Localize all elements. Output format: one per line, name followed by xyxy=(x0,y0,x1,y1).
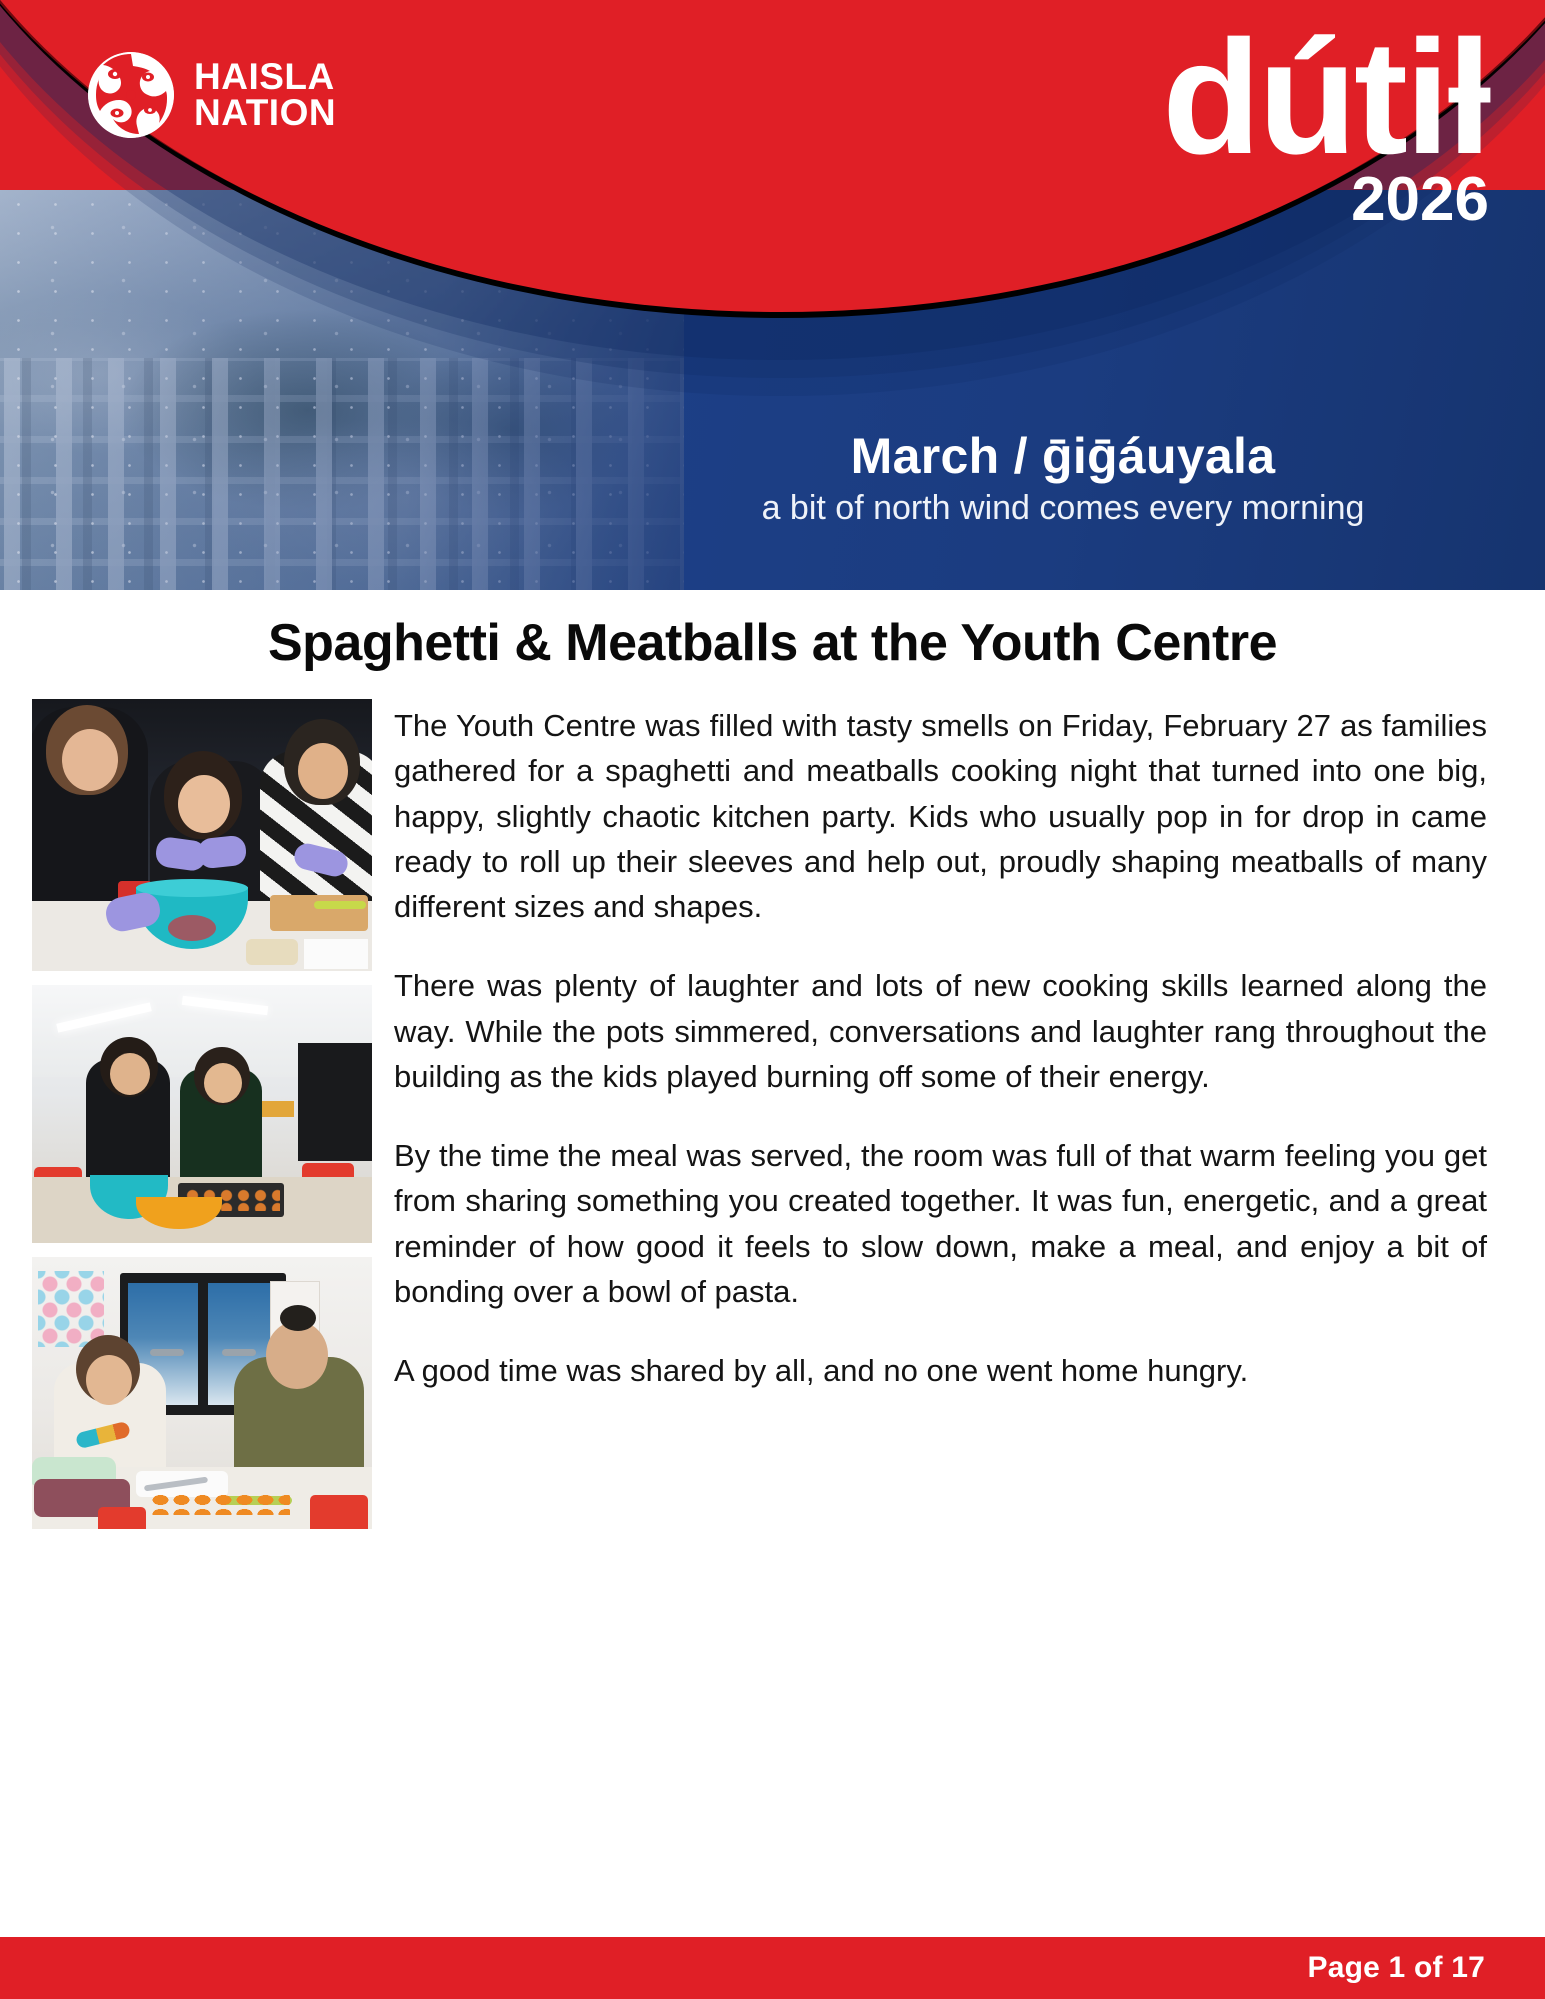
article-paragraph-4: A good time was shared by all, and no on… xyxy=(394,1348,1487,1393)
page-number-label: Page 1 of 17 xyxy=(1308,1951,1545,1985)
photo1-breadcrumb-bag xyxy=(246,939,298,965)
photo2-dark-locker xyxy=(298,1043,372,1161)
month-banner: March / ḡiḡáuyala a bit of north wind co… xyxy=(623,428,1503,529)
photo1-recipe-paper xyxy=(304,939,368,969)
article-paragraph-2: There was plenty of laughter and lots of… xyxy=(394,963,1487,1099)
month-blue-panel xyxy=(684,190,1545,590)
photo1-adult-face xyxy=(62,729,118,791)
hero-aerial-photo xyxy=(0,190,700,590)
photo2-youth-right-face xyxy=(204,1063,242,1103)
article-headline: Spaghetti & Meatballs at the Youth Centr… xyxy=(0,592,1545,671)
photo1-celery xyxy=(314,901,366,909)
photo3-adult-hair-bun xyxy=(280,1305,316,1331)
photo2-youth-left-face xyxy=(110,1053,150,1095)
photo3-chopped-carrots xyxy=(150,1493,290,1515)
hero-photo-blue-tint xyxy=(0,190,700,590)
month-subtitle: a bit of north wind comes every morning xyxy=(623,488,1503,529)
logo-line-2: NATION xyxy=(194,95,336,131)
logo-line-1: HAISLA xyxy=(194,59,336,95)
page-footer: Page 1 of 17 xyxy=(0,1937,1545,1999)
photo3-red-chair-right xyxy=(310,1495,368,1529)
haisla-nation-logo: HAISLA NATION xyxy=(88,52,336,138)
logo-wordmark: HAISLA NATION xyxy=(194,59,336,132)
article-section: Spaghetti & Meatballs at the Youth Centr… xyxy=(0,592,1545,1937)
photo3-wall-art xyxy=(38,1271,104,1347)
masthead-hero: HAISLA NATION dútiƚ 2026 March / ḡiḡáuya… xyxy=(0,0,1545,590)
masthead-word: dútiƚ xyxy=(1162,28,1489,167)
photo1-ground-meat xyxy=(168,915,216,941)
photo1-child-face xyxy=(178,775,230,833)
photo3-youth-face xyxy=(86,1355,132,1405)
month-title: March / ḡiḡáuyala xyxy=(623,428,1503,484)
article-paragraph-3: By the time the meal was served, the roo… xyxy=(394,1133,1487,1314)
photo3-door-handle-left xyxy=(150,1349,184,1356)
haisla-formline-circle-icon xyxy=(88,52,174,138)
photo3-red-chair-left xyxy=(98,1507,146,1529)
newsletter-page: HAISLA NATION dútiƚ 2026 March / ḡiḡáuya… xyxy=(0,0,1545,1999)
article-photo-2 xyxy=(32,985,372,1243)
photo3-adult-face xyxy=(266,1321,328,1389)
article-text-column: The Youth Centre was filled with tasty s… xyxy=(394,699,1487,1393)
article-photo-3 xyxy=(32,1257,372,1529)
masthead-title-block: dútiƚ 2026 xyxy=(1162,28,1489,231)
article-paragraph-1: The Youth Centre was filled with tasty s… xyxy=(394,703,1487,929)
photo1-elder-face xyxy=(298,743,348,799)
photo3-door-handle-right xyxy=(222,1349,256,1356)
article-photo-column xyxy=(32,699,372,1529)
article-photo-1 xyxy=(32,699,372,971)
article-body: The Youth Centre was filled with tasty s… xyxy=(0,671,1545,1529)
